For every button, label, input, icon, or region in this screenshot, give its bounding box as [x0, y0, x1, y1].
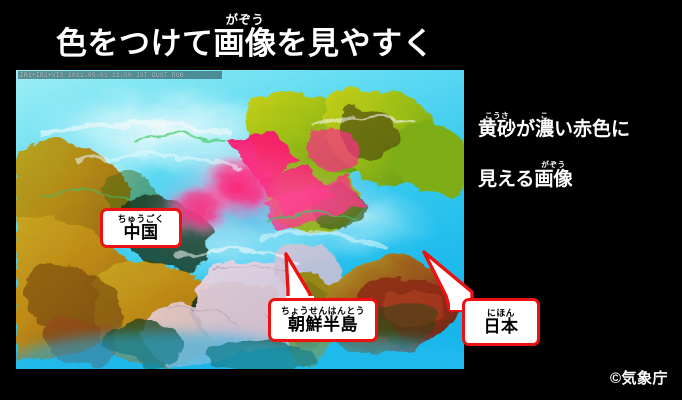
callout-china-label: 中国 [124, 224, 159, 241]
title-ruby-reading: がぞう [226, 14, 265, 26]
satellite-image-canvas [16, 70, 464, 369]
satellite-image: IR1+IR2+VIS 2011-05-01 12:00 JST DUST RG… [16, 70, 464, 369]
caption-mid: が [516, 120, 535, 139]
right-caption-line-1: こうさ黄砂がこ濃い赤色に [478, 112, 678, 139]
page-title: 色をつけてがぞう画像を見やすく [56, 14, 434, 59]
caption-ruby-koi-base: 濃 [535, 120, 554, 139]
callout-japan-label: 日本 [484, 318, 519, 335]
right-caption: こうさ黄砂がこ濃い赤色に 見えるがぞう画像 [478, 112, 678, 189]
callout-japan[interactable]: にほん日本 [462, 298, 540, 346]
title-segment-1: 色をつけて [56, 28, 214, 59]
caption-ruby-gazou2-reading: がぞう [541, 161, 565, 169]
caption-tail: い赤色に [554, 120, 630, 139]
copyright-notice: ©気象庁 [610, 367, 668, 388]
callout-japan-text: にほん日本 [484, 309, 519, 336]
caption-ruby-kosa: こうさ黄砂 [478, 112, 516, 139]
caption-ruby-gazou2-base: 画像 [534, 170, 572, 189]
callout-china-text: ちゅうごく中国 [118, 215, 165, 242]
callout-korea-text: ちょうせんはんとう朝鮮半島 [281, 307, 365, 334]
callout-china-ruby: ちゅうごく中国 [118, 215, 165, 242]
slide-root: 色をつけてがぞう画像を見やすく [0, 0, 682, 400]
caption-ruby-koi: こ濃 [535, 112, 554, 139]
callout-china[interactable]: ちゅうごく中国 [100, 208, 182, 248]
caption-ruby-kosa-base: 黄砂 [478, 120, 516, 139]
title-segment-2: を見やすく [277, 28, 435, 59]
callout-korea[interactable]: ちょうせんはんとう朝鮮半島 [268, 298, 378, 342]
caption-line2-lead: 見える [478, 170, 534, 189]
right-caption-line-2: 見えるがぞう画像 [478, 161, 678, 188]
satellite-timestamp-strip: IR1+IR2+VIS 2011-05-01 12:00 JST DUST RG… [18, 71, 222, 79]
callout-japan-ruby: にほん日本 [484, 309, 519, 336]
title-ruby-gazou: がぞう画像 [214, 14, 277, 59]
title-ruby-base: 画像 [214, 28, 277, 59]
callout-korea-ruby: ちょうせんはんとう朝鮮半島 [281, 307, 365, 334]
callout-korea-label: 朝鮮半島 [288, 316, 358, 333]
caption-ruby-gazou2: がぞう画像 [534, 161, 572, 188]
